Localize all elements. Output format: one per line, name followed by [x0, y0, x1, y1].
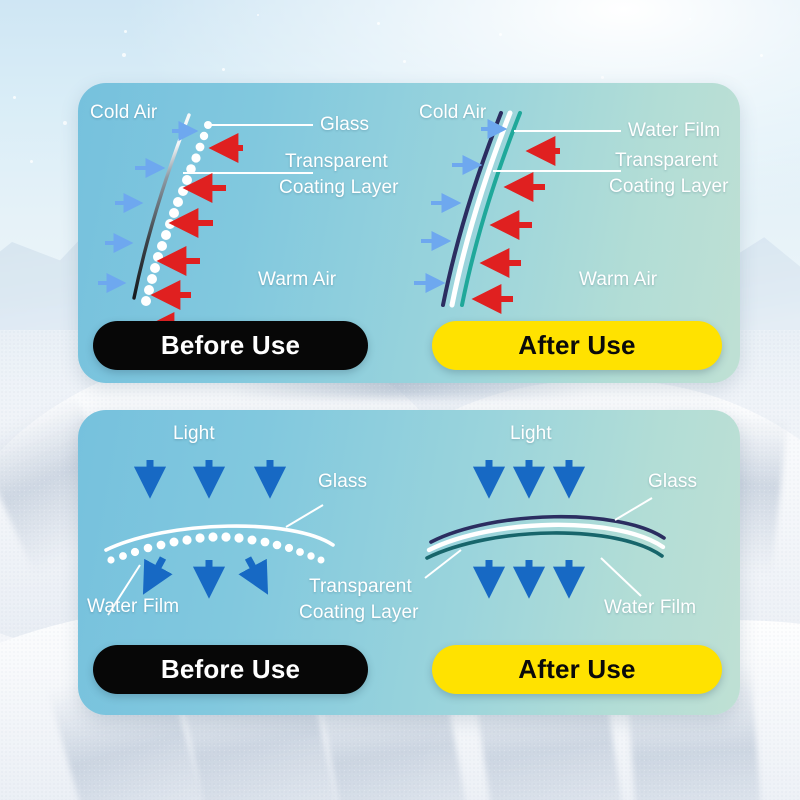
- sky-fleck: [377, 22, 380, 25]
- after-use-badge[interactable]: After Use: [432, 321, 722, 370]
- sky-fleck: [257, 14, 259, 16]
- before-use-badge[interactable]: Before Use: [93, 645, 368, 694]
- outgoing-light-arrow-group: [151, 558, 260, 582]
- anti-fog-before-half: Cold Air Glass Transparent Coating Layer…: [78, 83, 409, 383]
- label-coating-line2: Coating Layer: [279, 176, 399, 200]
- glass-curve: [134, 115, 189, 298]
- anti-fog-panel: Cold Air Glass Transparent Coating Layer…: [78, 83, 740, 383]
- label-coating-line1: Transparent: [309, 575, 412, 599]
- label-coating-line2: Coating Layer: [299, 601, 419, 625]
- sky-fleck: [601, 76, 604, 79]
- after-use-badge[interactable]: After Use: [432, 645, 722, 694]
- label-water-film: Water Film: [628, 119, 720, 143]
- sky-fleck: [13, 96, 16, 99]
- sky-fleck: [30, 160, 33, 163]
- leader-line-water-film: [601, 558, 641, 596]
- light-transmission-panel: Light Glass Water Film Before Use: [78, 410, 740, 715]
- sky-fleck: [689, 18, 691, 20]
- label-light: Light: [510, 422, 552, 446]
- before-use-badge[interactable]: Before Use: [93, 321, 368, 370]
- label-light: Light: [173, 422, 215, 446]
- incoming-light-arrow-group: [150, 460, 270, 482]
- light-after-half: Light Glass Transparent Coating Layer Wa…: [409, 410, 740, 715]
- after-use-badge-label: After Use: [518, 654, 635, 685]
- anti-fog-after-half: Cold Air Water Film Transparent Coating …: [409, 83, 740, 383]
- sky-fleck: [124, 30, 127, 33]
- label-warm-air: Warm Air: [258, 268, 336, 292]
- sky-fleck: [760, 54, 763, 57]
- after-use-badge-label: After Use: [518, 330, 635, 361]
- sky-fleck: [63, 121, 67, 125]
- light-before-half: Light Glass Water Film Before Use: [78, 410, 409, 715]
- label-warm-air: Warm Air: [579, 268, 657, 292]
- label-cold-air: Cold Air: [419, 101, 486, 125]
- sky-fleck: [403, 60, 406, 63]
- label-glass: Glass: [648, 470, 697, 494]
- label-cold-air: Cold Air: [90, 101, 157, 125]
- glass-layer-line: [443, 113, 501, 305]
- leader-line-glass: [615, 498, 652, 520]
- water-film-layer-line: [452, 113, 510, 305]
- outgoing-light-arrow-group: [489, 560, 569, 582]
- label-glass: Glass: [318, 470, 367, 494]
- incoming-light-arrow-group: [489, 460, 569, 482]
- label-glass: Glass: [320, 113, 369, 137]
- before-use-badge-label: Before Use: [161, 654, 300, 685]
- leader-line-coating: [425, 550, 461, 578]
- sky-fleck: [499, 33, 502, 36]
- glass-arch-line: [106, 526, 333, 550]
- label-coating-line2: Coating Layer: [609, 175, 729, 199]
- label-coating-line1: Transparent: [285, 150, 388, 174]
- sky-fleck: [122, 53, 126, 57]
- warm-air-arrow-group: [160, 148, 243, 327]
- label-water-film: Water Film: [604, 596, 696, 620]
- before-use-badge-label: Before Use: [161, 330, 300, 361]
- sky-fleck: [222, 68, 225, 71]
- label-water-film: Water Film: [87, 595, 179, 619]
- infographic-canvas: Cold Air Glass Transparent Coating Layer…: [0, 0, 800, 800]
- label-coating-line1: Transparent: [615, 149, 718, 173]
- leader-line-glass: [286, 505, 323, 527]
